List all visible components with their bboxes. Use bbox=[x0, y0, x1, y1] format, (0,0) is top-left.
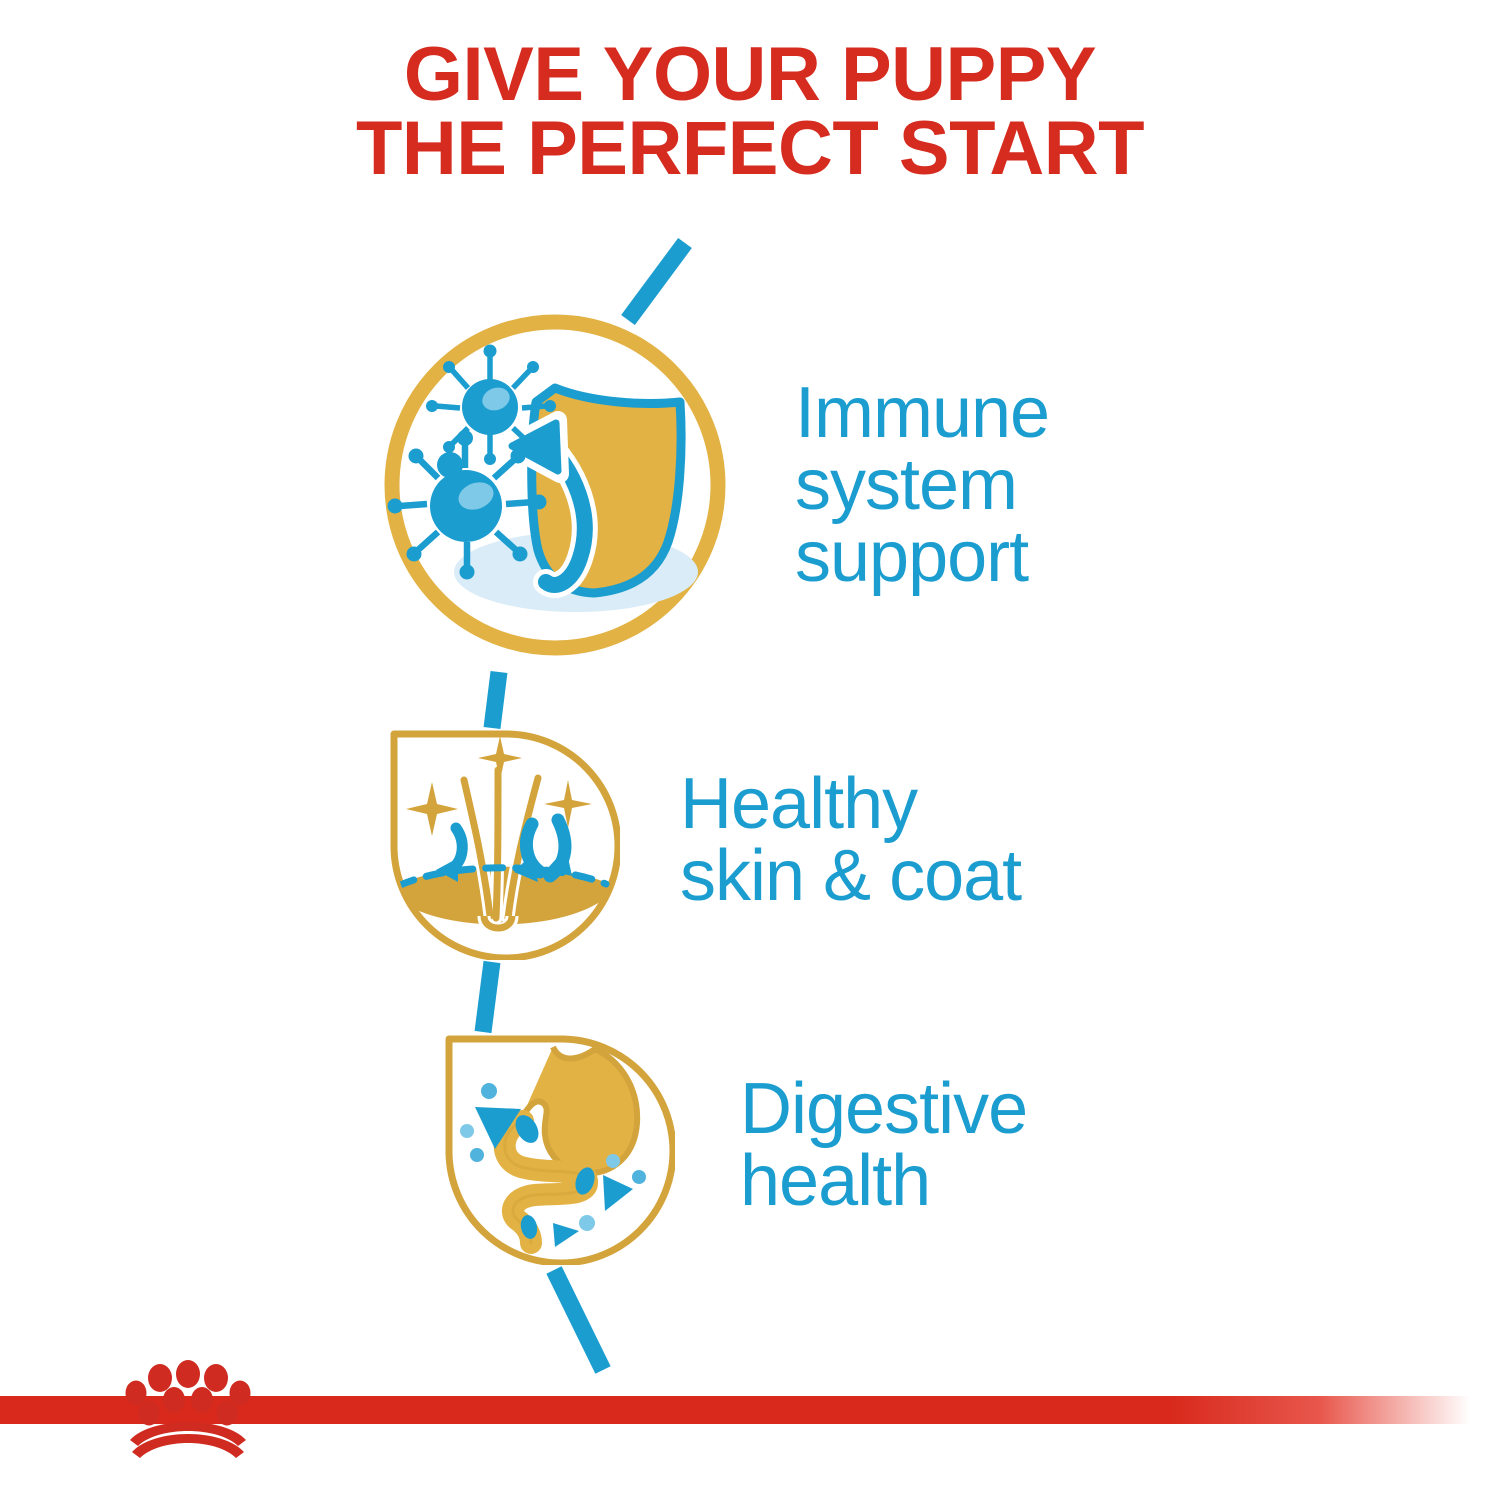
headline-line-2: THE PERFECT START bbox=[0, 112, 1500, 186]
benefit-icon-slot bbox=[345, 310, 765, 660]
royal-canin-crown-logo bbox=[108, 1360, 268, 1470]
benefit-row-digestive: Digestive health bbox=[0, 1020, 1500, 1270]
page-title: GIVE YOUR PUPPY THE PERFECT START bbox=[0, 38, 1500, 185]
benefit-label-skin-coat: Healthy skin & coat bbox=[680, 768, 1021, 912]
virus-small-icon bbox=[426, 345, 556, 466]
immune-shield-virus-icon bbox=[380, 310, 730, 660]
benefit-row-immune: Immune system support bbox=[0, 300, 1500, 670]
benefit-label-immune: Immune system support bbox=[795, 377, 1049, 593]
hair-follicle-skin-icon bbox=[380, 720, 620, 960]
benefits-list: Immune system support bbox=[0, 300, 1500, 1320]
benefit-label-digestive: Digestive health bbox=[740, 1073, 1027, 1217]
stomach-intestine-icon bbox=[435, 1025, 675, 1265]
benefit-row-skin-coat: Healthy skin & coat bbox=[0, 715, 1500, 965]
brand-footer bbox=[0, 1360, 1500, 1500]
virus-large-icon bbox=[388, 430, 547, 580]
benefit-icon-slot bbox=[350, 720, 650, 960]
benefit-icon-slot bbox=[405, 1025, 705, 1265]
headline-line-1: GIVE YOUR PUPPY bbox=[0, 38, 1500, 112]
